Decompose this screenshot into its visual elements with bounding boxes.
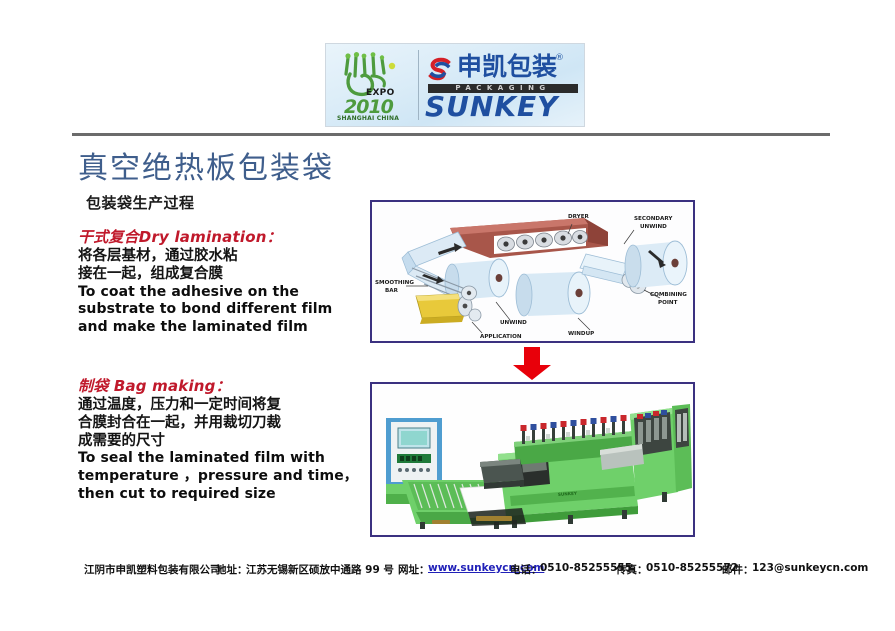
en-line: temperature ，pressure and time， bbox=[78, 468, 358, 486]
bag-making-machine-illustration: SUNKEY bbox=[372, 384, 693, 535]
cn-line: 通过温度，压力和一定时间将复 bbox=[78, 397, 358, 415]
footer-address-label: 地址： bbox=[216, 562, 248, 577]
figure-label-secondary-unwind-2: UNWIND bbox=[640, 224, 667, 230]
en-line: To seal the laminated film with bbox=[78, 450, 358, 468]
text-block-bagmaking: 制袋 Bag making： 通过温度，压力和一定时间将复 合膜封合在一起，并用… bbox=[78, 375, 358, 503]
en-line: and make the laminated film bbox=[78, 319, 332, 337]
figure-label-smoothing-bar-2: BAR bbox=[385, 288, 399, 294]
figure-label-smoothing-bar: SMOOTHING bbox=[375, 280, 414, 286]
logo-banner: EXPO 2010 SHANGHAI CHINA 申凯包装 ® PACKAGIN… bbox=[325, 43, 585, 127]
footer-email: 123@sunkeycn.com bbox=[752, 562, 868, 574]
block-heading: 制袋 Bag making： bbox=[78, 375, 358, 396]
cn-line: 将各层基材，通过胶水粘 bbox=[78, 248, 332, 266]
figure-label-combining-point-2: POINT bbox=[658, 300, 678, 306]
en-line: substrate to bond different film bbox=[78, 301, 332, 319]
figure-label-unwind: UNWIND bbox=[500, 320, 527, 326]
cn-line: 成需要的尺寸 bbox=[78, 433, 358, 451]
footer: 江阴市申凯塑料包装有限公司 地址： 江苏无锡新区硕放中通路 99 号 网址： w… bbox=[0, 562, 895, 584]
title-divider bbox=[72, 133, 830, 136]
slide-page: EXPO 2010 SHANGHAI CHINA 申凯包装 ® PACKAGIN… bbox=[0, 0, 895, 631]
figure-label-windup: WINDUP bbox=[568, 331, 594, 337]
figure-label-dryer: DRYER bbox=[568, 214, 590, 220]
expo-city: SHANGHAI CHINA bbox=[337, 115, 399, 122]
footer-phone-label: 电话： bbox=[510, 562, 542, 577]
footer-website-label: 网址： bbox=[398, 562, 430, 577]
footer-company: 江阴市申凯塑料包装有限公司 bbox=[84, 562, 221, 577]
figure-label-secondary-unwind: SECONDARY bbox=[634, 216, 673, 222]
en-line: then cut to required size bbox=[78, 486, 358, 504]
sunkey-s-mark-icon bbox=[427, 57, 453, 83]
figure-bag-making-machine: SUNKEY bbox=[370, 382, 695, 537]
sunkey-brand-wordmark: SUNKEY bbox=[425, 93, 558, 121]
block-heading: 干式复合Dry lamination： bbox=[78, 226, 332, 247]
dry-lamination-diagram-illustration: DRYER SECONDARY UNWIND SMOOTHING BAR UNW… bbox=[372, 202, 693, 341]
cn-line: 接在一起，组成复合膜 bbox=[78, 266, 332, 284]
footer-fax-label: 传真： bbox=[616, 562, 648, 577]
section-subtitle: 包装袋生产过程 bbox=[86, 192, 195, 213]
en-line: To coat the adhesive on the bbox=[78, 284, 332, 302]
figure-dry-lamination: DRYER SECONDARY UNWIND SMOOTHING BAR UNW… bbox=[370, 200, 695, 343]
down-arrow-icon bbox=[511, 347, 553, 381]
footer-email-label: 邮件： bbox=[722, 562, 754, 577]
footer-address: 江苏无锡新区硕放中通路 99 号 bbox=[246, 562, 394, 577]
sunkey-chinese-name: 申凯包装 bbox=[457, 54, 557, 79]
expo-logo: EXPO 2010 SHANGHAI CHINA bbox=[326, 44, 418, 126]
text-block-lamination: 干式复合Dry lamination： 将各层基材，通过胶水粘 接在一起，组成复… bbox=[78, 226, 332, 337]
sunkey-logo: 申凯包装 ® PACKAGING SUNKEY bbox=[419, 44, 584, 126]
figure-label-application: APPLICATION bbox=[480, 334, 522, 340]
registered-trademark-icon: ® bbox=[555, 53, 564, 63]
figure-label-combining-point: COMBINING bbox=[650, 292, 687, 298]
page-title: 真空绝热板包装袋 bbox=[78, 143, 334, 187]
cn-line: 合膜封合在一起，并用裁切刀裁 bbox=[78, 415, 358, 433]
